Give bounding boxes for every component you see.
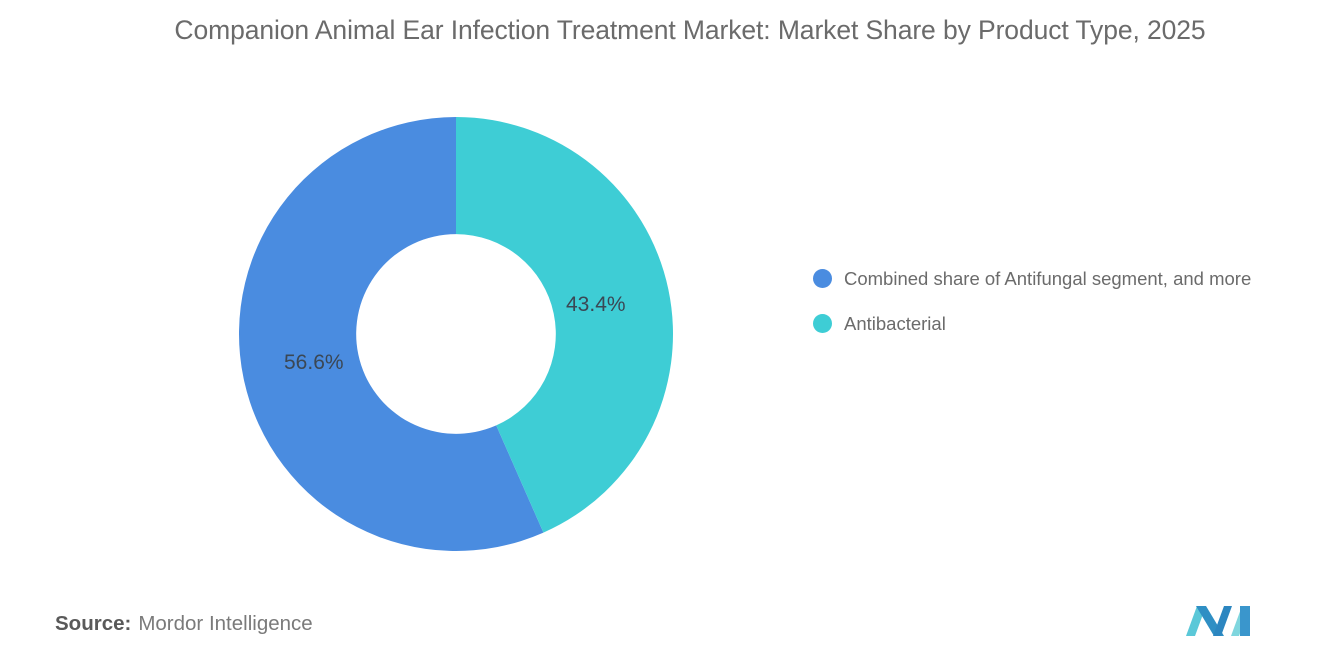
source-name: Mordor Intelligence bbox=[138, 612, 312, 635]
source-label: Source: bbox=[55, 612, 131, 635]
donut-slice-value-label-0: 56.6% bbox=[284, 351, 344, 375]
legend-item-antibacterial[interactable]: Antibacterial bbox=[813, 311, 1303, 337]
source-attribution: Source:Mordor Intelligence bbox=[55, 612, 313, 636]
legend-item-label: Antibacterial bbox=[844, 311, 946, 337]
legend-color-swatch-icon bbox=[813, 269, 832, 288]
donut-slice-value-label-1: 43.4% bbox=[566, 293, 626, 317]
page-title: Companion Animal Ear Infection Treatment… bbox=[150, 10, 1230, 50]
donut-chart: 56.6% 43.4% bbox=[239, 117, 673, 551]
donut-chart-svg bbox=[239, 117, 673, 551]
legend-color-swatch-icon bbox=[813, 314, 832, 333]
mordor-intelligence-logo-icon bbox=[1184, 600, 1256, 642]
legend-item-label: Combined share of Antifungal segment, an… bbox=[844, 266, 1251, 292]
chart-legend: Combined share of Antifungal segment, an… bbox=[813, 266, 1303, 356]
legend-item-combined-share-of-antifungal[interactable]: Combined share of Antifungal segment, an… bbox=[813, 266, 1303, 292]
